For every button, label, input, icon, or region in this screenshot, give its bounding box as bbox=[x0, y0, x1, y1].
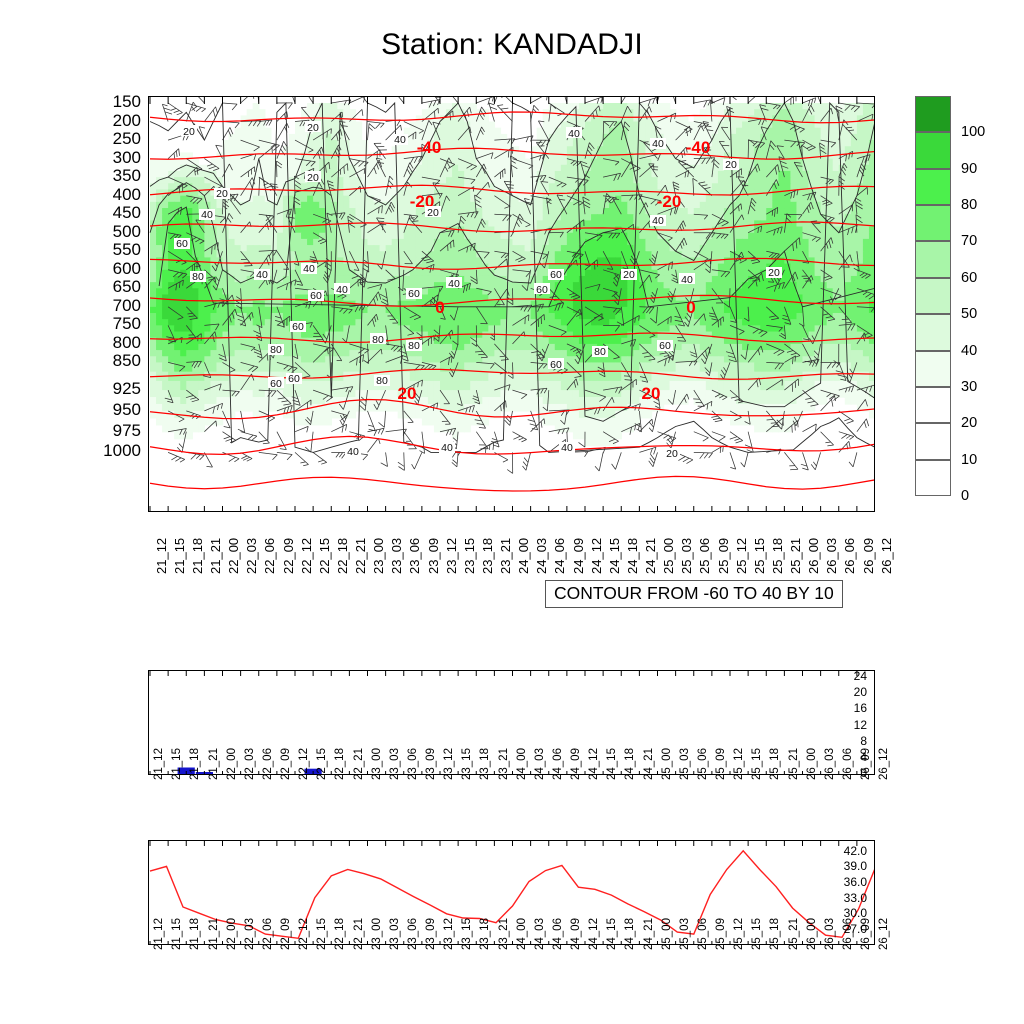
time-tick-label: 21_21 bbox=[208, 748, 220, 780]
time-tick-label: 25_18 bbox=[769, 918, 781, 950]
time-tick-label: 23_06 bbox=[407, 538, 422, 574]
time-tick-label: 24_12 bbox=[588, 748, 600, 780]
time-tick-label: 22_09 bbox=[280, 748, 292, 780]
time-tick-label: 23_21 bbox=[498, 538, 513, 574]
time-tick-label: 23_03 bbox=[389, 748, 401, 780]
colorbar-cell bbox=[915, 351, 951, 387]
time-tick-label: 23_15 bbox=[461, 748, 473, 780]
time-tick-label: 21_12 bbox=[154, 538, 169, 574]
time-tick-label: 25_21 bbox=[788, 748, 800, 780]
colorbar-tick-label: 20 bbox=[961, 415, 977, 431]
time-tick-label: 21_18 bbox=[189, 918, 201, 950]
rain-tick-label: 24 bbox=[854, 669, 867, 683]
time-tick-label: 23_09 bbox=[426, 538, 441, 574]
time-tick-label: 22_06 bbox=[262, 918, 274, 950]
time-tick-label: 21_12 bbox=[153, 918, 165, 950]
time-tick-label: 22_06 bbox=[262, 538, 277, 574]
time-tick-label: 25_12 bbox=[733, 748, 745, 780]
time-tick-label: 21_18 bbox=[190, 538, 205, 574]
time-tick-label: 25_00 bbox=[661, 538, 676, 574]
colorbar-cell bbox=[915, 278, 951, 314]
pressure-tick-label: 750 bbox=[113, 314, 141, 334]
temp-line bbox=[150, 851, 875, 939]
time-tick-label: 26_03 bbox=[824, 918, 836, 950]
time-tick-label: 25_21 bbox=[788, 538, 803, 574]
time-tick-label: 22_00 bbox=[226, 918, 238, 950]
time-tick-label: 25_03 bbox=[679, 748, 691, 780]
pressure-tick-label: 500 bbox=[113, 222, 141, 242]
temp-tick-label: 33.0 bbox=[844, 891, 867, 905]
colorbar-cell bbox=[915, 314, 951, 350]
time-tick-label: 23_00 bbox=[371, 538, 386, 574]
time-tick-label: 21_18 bbox=[189, 748, 201, 780]
time-tick-label: 23_00 bbox=[371, 748, 383, 780]
time-tick-label: 26_06 bbox=[842, 918, 854, 950]
time-tick-label: 24_21 bbox=[643, 748, 655, 780]
colorbar-tick-label: 30 bbox=[961, 379, 977, 395]
time-tick-label: 22_00 bbox=[226, 538, 241, 574]
time-tick-label: 23_09 bbox=[425, 918, 437, 950]
time-tick-label: 25_21 bbox=[788, 918, 800, 950]
time-tick-label: 24_06 bbox=[552, 918, 564, 950]
time-tick-label: 22_12 bbox=[299, 538, 314, 574]
cross-section-panel: -40-40-20-200020202020404040202020402040… bbox=[148, 96, 875, 512]
time-tick-label: 22_09 bbox=[280, 918, 292, 950]
pressure-tick-label: 700 bbox=[113, 296, 141, 316]
contour-note: CONTOUR FROM -60 TO 40 BY 10 bbox=[545, 580, 843, 608]
temp-ticks bbox=[150, 841, 875, 945]
time-tick-label: 21_12 bbox=[153, 748, 165, 780]
time-tick-label: 23_09 bbox=[425, 748, 437, 780]
rain-plot-area bbox=[148, 670, 875, 775]
time-tick-label: 23_00 bbox=[371, 918, 383, 950]
colorbar-tick-label: 10 bbox=[961, 452, 977, 468]
time-tick-label: 22_03 bbox=[244, 748, 256, 780]
time-tick-label: 24_15 bbox=[607, 538, 622, 574]
time-tick-label: 25_09 bbox=[715, 918, 727, 950]
time-tick-label: 26_09 bbox=[861, 538, 876, 574]
time-tick-label: 24_09 bbox=[571, 538, 586, 574]
pressure-tick-label: 850 bbox=[113, 351, 141, 371]
colorbar-tick-label: 60 bbox=[961, 270, 977, 286]
time-tick-label: 23_15 bbox=[462, 538, 477, 574]
pressure-tick-label: 550 bbox=[113, 240, 141, 260]
pressure-tick-label: 150 bbox=[113, 92, 141, 112]
pressure-tick-label: 250 bbox=[113, 129, 141, 149]
temp-panel: 27.030.033.036.039.042.0 21_1221_1521_18… bbox=[148, 840, 875, 945]
time-tick-label: 23_03 bbox=[389, 538, 404, 574]
time-tick-label: 24_03 bbox=[534, 748, 546, 780]
time-tick-label: 25_09 bbox=[715, 748, 727, 780]
temp-tick-label: 42.0 bbox=[844, 844, 867, 858]
time-tick-label: 24_12 bbox=[588, 918, 600, 950]
rain-tick-label: 16 bbox=[854, 701, 867, 715]
time-tick-label: 25_12 bbox=[733, 918, 745, 950]
time-tick-label: 25_03 bbox=[679, 918, 691, 950]
time-tick-label: 23_12 bbox=[444, 538, 459, 574]
rain-tick-label: 8 bbox=[860, 734, 867, 748]
time-tick-label: 25_12 bbox=[734, 538, 749, 574]
time-tick-label: 26_00 bbox=[806, 538, 821, 574]
colorbar-tick-label: 70 bbox=[961, 233, 977, 249]
time-tick-label: 24_00 bbox=[516, 918, 528, 950]
time-tick-label: 24_09 bbox=[570, 918, 582, 950]
time-tick-label: 23_15 bbox=[461, 918, 473, 950]
colorbar-tick-label: 80 bbox=[961, 197, 977, 213]
time-tick-label: 25_06 bbox=[697, 538, 712, 574]
time-tick-label: 25_06 bbox=[697, 748, 709, 780]
time-tick-label: 24_18 bbox=[625, 538, 640, 574]
time-tick-label: 26_12 bbox=[878, 918, 890, 950]
time-tick-label: 22_12 bbox=[298, 918, 310, 950]
temp-tick-label: 39.0 bbox=[844, 859, 867, 873]
time-tick-label: 24_15 bbox=[606, 748, 618, 780]
time-tick-label: 24_06 bbox=[552, 748, 564, 780]
time-tick-label: 21_21 bbox=[208, 918, 220, 950]
time-tick-label: 23_21 bbox=[498, 918, 510, 950]
time-tick-label: 26_06 bbox=[842, 748, 854, 780]
time-tick-label: 25_15 bbox=[751, 748, 763, 780]
time-tick-label: 22_21 bbox=[353, 538, 368, 574]
time-tick-label: 25_00 bbox=[661, 748, 673, 780]
time-tick-label: 22_00 bbox=[226, 748, 238, 780]
cross-section-plot-area: -40-40-20-200020202020404040202020402040… bbox=[148, 96, 875, 512]
time-tick-label: 22_12 bbox=[298, 748, 310, 780]
time-tick-label: 24_06 bbox=[552, 538, 567, 574]
time-tick-label: 22_18 bbox=[335, 538, 350, 574]
time-tick-label: 24_03 bbox=[534, 538, 549, 574]
time-tick-label: 23_18 bbox=[479, 918, 491, 950]
time-tick-label: 21_15 bbox=[172, 538, 187, 574]
colorbar-cell bbox=[915, 241, 951, 277]
time-tick-label: 23_12 bbox=[443, 748, 455, 780]
time-tick-label: 24_03 bbox=[534, 918, 546, 950]
time-tick-label: 22_15 bbox=[316, 748, 328, 780]
time-tick-label: 23_12 bbox=[443, 918, 455, 950]
time-tick-label: 25_09 bbox=[716, 538, 731, 574]
time-tick-label: 26_03 bbox=[824, 538, 839, 574]
time-tick-label: 24_18 bbox=[624, 748, 636, 780]
colorbar-tick-label: 100 bbox=[961, 124, 985, 140]
time-tick-label: 22_03 bbox=[244, 918, 256, 950]
time-tick-label: 26_09 bbox=[860, 918, 872, 950]
rain-tick-label: 20 bbox=[854, 685, 867, 699]
colorbar-cell bbox=[915, 169, 951, 205]
colorbar-cell bbox=[915, 423, 951, 459]
colorbar-cell bbox=[915, 387, 951, 423]
pressure-tick-label: 300 bbox=[113, 148, 141, 168]
time-tick-label: 22_21 bbox=[353, 748, 365, 780]
time-tick-label: 23_06 bbox=[407, 918, 419, 950]
time-tick-label: 24_21 bbox=[643, 918, 655, 950]
pressure-tick-label: 975 bbox=[113, 421, 141, 441]
pressure-tick-label: 400 bbox=[113, 185, 141, 205]
time-tick-label: 22_18 bbox=[334, 918, 346, 950]
time-tick-label: 24_12 bbox=[589, 538, 604, 574]
pressure-tick-label: 800 bbox=[113, 333, 141, 353]
pressure-tick-label: 950 bbox=[113, 400, 141, 420]
time-tick-label: 21_15 bbox=[171, 918, 183, 950]
pressure-tick-label: 450 bbox=[113, 203, 141, 223]
time-tick-label: 26_03 bbox=[824, 748, 836, 780]
time-tick-label: 22_06 bbox=[262, 748, 274, 780]
time-tick-label: 25_18 bbox=[770, 538, 785, 574]
pressure-tick-label: 650 bbox=[113, 277, 141, 297]
time-tick-label: 24_15 bbox=[606, 918, 618, 950]
time-tick-label: 22_18 bbox=[334, 748, 346, 780]
rain-svg bbox=[149, 671, 875, 775]
time-tick-label: 26_06 bbox=[842, 538, 857, 574]
pressure-tick-label: 1000 bbox=[103, 441, 141, 461]
time-tick-label: 26_00 bbox=[806, 918, 818, 950]
cross-section-svg: -40-40-20-200020202020404040202020402040… bbox=[149, 97, 875, 512]
time-tick-label: 25_15 bbox=[751, 918, 763, 950]
pressure-tick-label: 925 bbox=[113, 379, 141, 399]
pressure-tick-label: 350 bbox=[113, 166, 141, 186]
time-tick-label: 25_06 bbox=[697, 918, 709, 950]
time-tick-label: 22_15 bbox=[317, 538, 332, 574]
colorbar-tick-label: 40 bbox=[961, 343, 977, 359]
main-y-tick-labels: 1502002503003504004505005506006507007508… bbox=[148, 96, 149, 512]
time-tick-label: 22_03 bbox=[244, 538, 259, 574]
rain-ticks bbox=[150, 671, 875, 775]
colorbar-tick-label: 90 bbox=[961, 161, 977, 177]
temp-tick-label: 36.0 bbox=[844, 875, 867, 889]
time-tick-label: 23_06 bbox=[407, 748, 419, 780]
temp-svg bbox=[149, 841, 875, 945]
colorbar: 1009080706050403020100 bbox=[915, 96, 951, 496]
colorbar-cell bbox=[915, 460, 951, 496]
temp-plot-area bbox=[148, 840, 875, 945]
time-tick-label: 26_12 bbox=[878, 748, 890, 780]
rain-panel: 04812162024 21_1221_1521_1821_2122_0022_… bbox=[148, 670, 875, 775]
pressure-tick-label: 600 bbox=[113, 259, 141, 279]
time-tick-label: 23_18 bbox=[480, 538, 495, 574]
pressure-tick-label: 200 bbox=[113, 111, 141, 131]
time-tick-label: 22_15 bbox=[316, 918, 328, 950]
time-tick-label: 23_21 bbox=[498, 748, 510, 780]
time-tick-label: 25_15 bbox=[752, 538, 767, 574]
time-tick-label: 23_18 bbox=[479, 748, 491, 780]
time-tick-label: 22_09 bbox=[281, 538, 296, 574]
colorbar-cell bbox=[915, 205, 951, 241]
time-tick-label: 25_00 bbox=[661, 918, 673, 950]
colorbar-tick-label: 0 bbox=[961, 488, 969, 504]
colorbar-tick-label: 50 bbox=[961, 306, 977, 322]
time-tick-label: 25_03 bbox=[679, 538, 694, 574]
time-tick-label: 21_21 bbox=[208, 538, 223, 574]
time-tick-label: 24_09 bbox=[570, 748, 582, 780]
time-tick-label: 21_15 bbox=[171, 748, 183, 780]
time-tick-label: 26_00 bbox=[806, 748, 818, 780]
time-tick-label: 26_12 bbox=[879, 538, 894, 574]
time-tick-label: 22_21 bbox=[353, 918, 365, 950]
colorbar-cell bbox=[915, 132, 951, 168]
time-tick-label: 24_18 bbox=[624, 918, 636, 950]
time-tick-label: 24_00 bbox=[516, 538, 531, 574]
rain-tick-label: 12 bbox=[854, 718, 867, 732]
page-title: Station: KANDADJI bbox=[0, 28, 1024, 62]
time-tick-label: 24_00 bbox=[516, 748, 528, 780]
time-tick-label: 26_09 bbox=[860, 748, 872, 780]
time-tick-label: 23_03 bbox=[389, 918, 401, 950]
colorbar-cell bbox=[915, 96, 951, 132]
time-tick-label: 24_21 bbox=[643, 538, 658, 574]
time-tick-label: 25_18 bbox=[769, 748, 781, 780]
